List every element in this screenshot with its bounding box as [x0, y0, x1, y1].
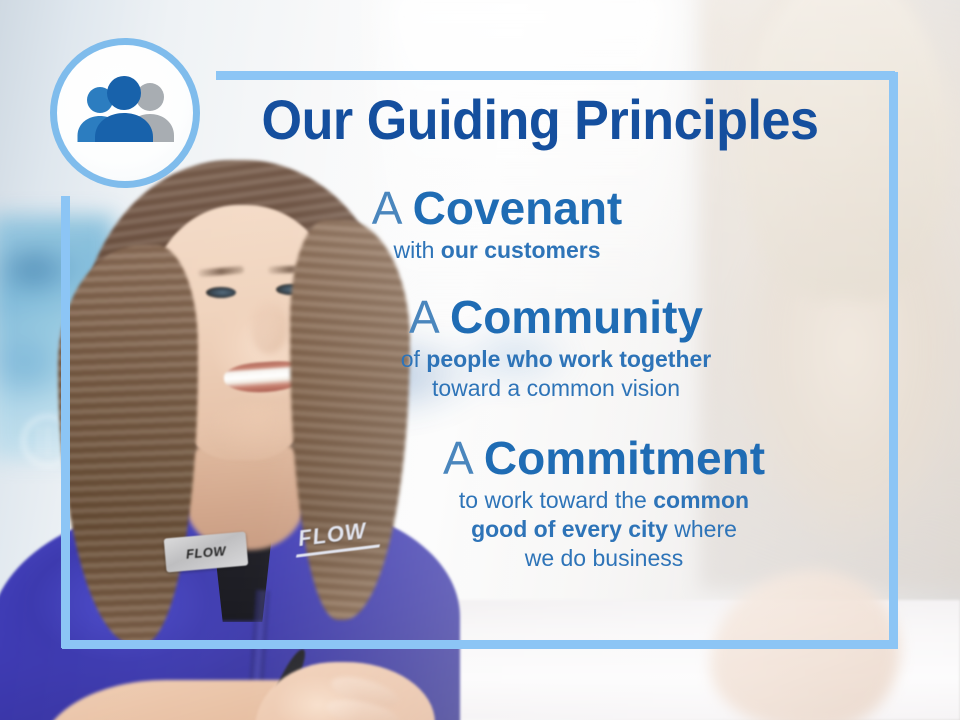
principle-title: A Community [232, 293, 880, 342]
subtitle-segment-bold: people who work together [426, 346, 711, 372]
subtitle-segment-bold: common [653, 487, 749, 513]
principle-subtitle: with our customers [160, 236, 834, 265]
banner-image: FLOW FLOW [0, 0, 960, 720]
subtitle-line: we do business [328, 544, 880, 573]
principle-covenant: A Covenant with our customers [160, 184, 880, 265]
people-group-icon [71, 76, 179, 150]
page-title: Our Guiding Principles [238, 92, 843, 148]
subtitle-segment: with [393, 237, 440, 263]
principle-keyword: Commitment [484, 432, 765, 484]
subtitle-line: with our customers [393, 237, 600, 263]
subtitle-segment: where [668, 516, 737, 542]
principle-article: A [443, 432, 471, 484]
principle-community: A Community of people who work together … [160, 293, 880, 404]
subtitle-line: of people who work together [232, 345, 880, 374]
subtitle-line: toward a common vision [232, 374, 880, 403]
subtitle-segment: of [401, 346, 427, 372]
principle-title: A Commitment [328, 434, 880, 483]
principle-title: A Covenant [160, 184, 834, 233]
principle-subtitle: of people who work together toward a com… [232, 345, 880, 404]
subtitle-segment-bold: good of every city [471, 516, 668, 542]
principle-article: A [409, 291, 437, 343]
subtitle-line: to work toward the common [328, 486, 880, 515]
subtitle-segment: we do business [525, 545, 684, 571]
principle-subtitle: to work toward the common good of every … [328, 486, 880, 574]
principle-article: A [372, 182, 400, 234]
subtitle-segment-bold: our customers [441, 237, 601, 263]
subtitle-line: good of every city where [328, 515, 880, 544]
principle-commitment: A Commitment to work toward the common g… [160, 434, 880, 574]
principle-keyword: Community [450, 291, 703, 343]
principle-keyword: Covenant [413, 182, 623, 234]
principles-list: A Covenant with our customers A Communit… [160, 182, 880, 586]
subtitle-segment: toward a common vision [432, 375, 680, 401]
subtitle-segment: to work toward the [459, 487, 653, 513]
people-badge [50, 38, 200, 188]
